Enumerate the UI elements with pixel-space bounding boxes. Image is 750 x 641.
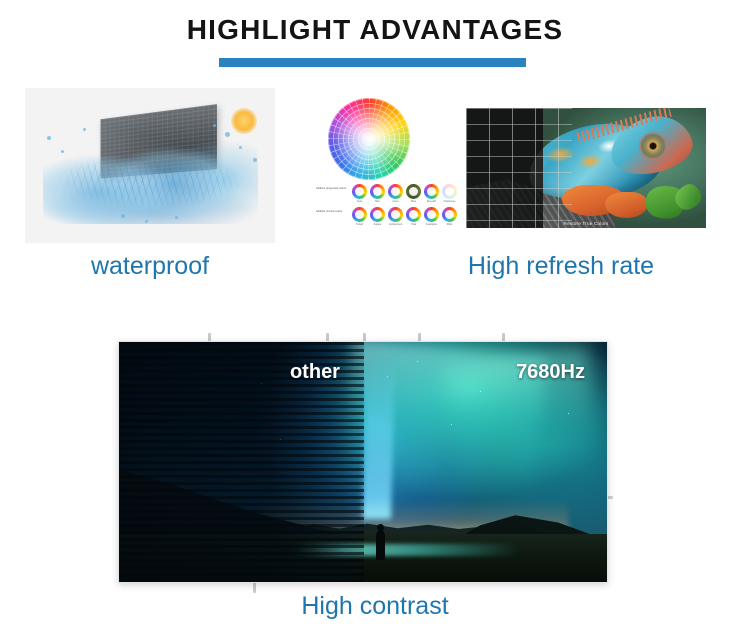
water-droplets: [25, 88, 275, 243]
chameleon-screen-image: Restore True Colors: [466, 108, 706, 228]
restore-true-colors-caption: Restore True Colors: [466, 221, 706, 226]
swatch-label: Emerald: [422, 200, 441, 203]
swatch-row: Additive (projected) colors Cyan Mint Az…: [316, 184, 458, 206]
page-header: HIGHLIGHT ADVANTAGES: [0, 0, 750, 80]
swatch-label: Chartreuse: [440, 200, 459, 203]
feature-row-top: Additive (projected) colors Cyan Mint Az…: [0, 84, 750, 284]
title-underline-rule: [219, 58, 526, 67]
swatch-label: Triad: [404, 223, 423, 226]
waterproof-caption: waterproof: [25, 252, 275, 281]
label-other: other: [119, 361, 364, 384]
swatch-row: Additive (mixed) colors Tetrad Square Co…: [316, 207, 458, 229]
swatch-label: Cyan: [350, 200, 369, 203]
person-silhouette: [376, 530, 385, 560]
high-refresh-rate-caption: High refresh rate: [416, 252, 706, 281]
swatch-label: Complement: [386, 223, 405, 226]
color-wheel-image: Additive (projected) colors Cyan Mint Az…: [310, 92, 460, 232]
label-refresh-rate: 7680Hz: [516, 361, 585, 384]
page-title: HIGHLIGHT ADVANTAGES: [0, 14, 750, 46]
swatch-row-label: Additive (mixed) colors: [316, 210, 348, 213]
waterproof-image: [25, 88, 275, 243]
pixel-grid-overlay: [466, 108, 572, 228]
swatch-row-label: Additive (projected) colors: [316, 187, 348, 190]
flashlight-beam: [362, 361, 395, 519]
swatch-label: Olive: [404, 200, 423, 203]
swatch-label: Square: [368, 223, 387, 226]
color-wheel-graphic: [328, 98, 410, 180]
high-contrast-caption: High contrast: [0, 592, 750, 621]
swatch-label: Analogous: [422, 223, 441, 226]
highlight-advantages-page: HIGHLIGHT ADVANTAGES: [0, 0, 750, 641]
feature-row-bottom: other 7680Hz High contrast: [0, 300, 750, 641]
swatch-label: Azure: [386, 200, 405, 203]
high-contrast-panel-image: other 7680Hz: [118, 341, 608, 583]
color-swatch-grid: Additive (projected) colors Cyan Mint Az…: [316, 184, 458, 230]
swatch-label: Splits: [440, 223, 459, 226]
swatch-label: Tetrad: [350, 223, 369, 226]
swatch-label: Mint: [368, 200, 387, 203]
